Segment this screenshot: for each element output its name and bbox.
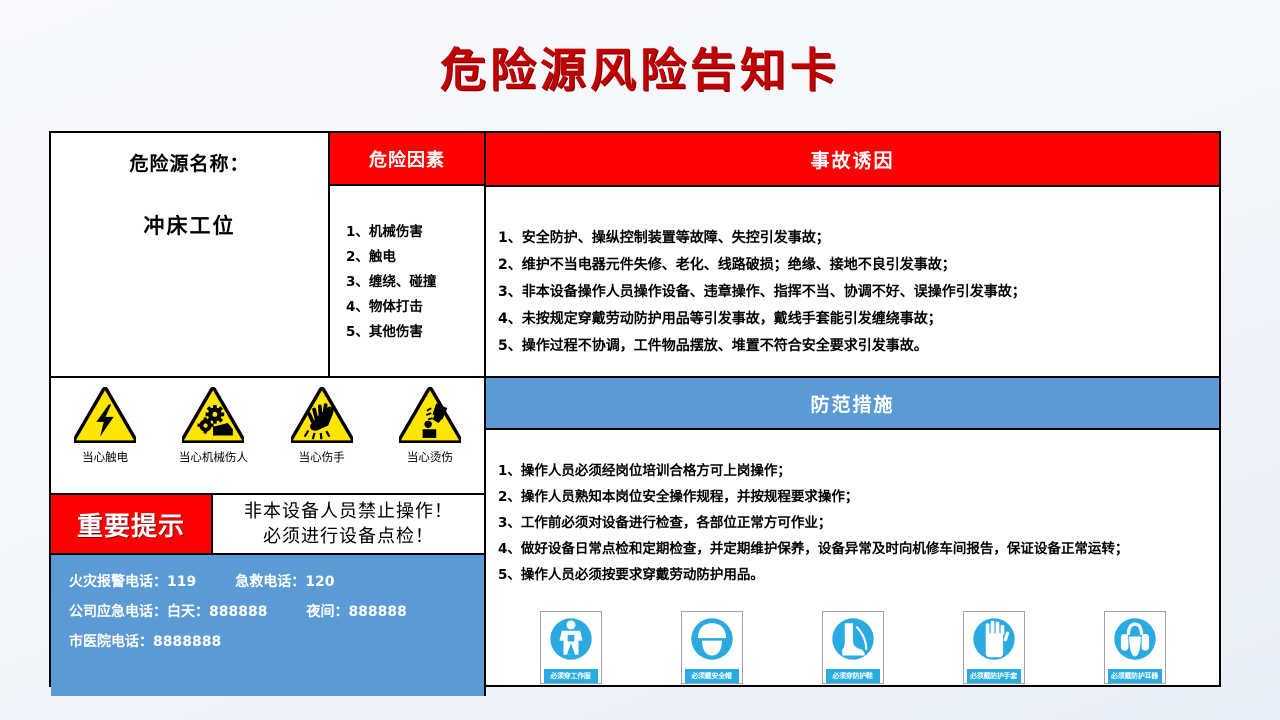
hazard-notice-card-page: 危险源风险告知卡 危险源名称： 冲床工位 危险因素 1、机械伤害 2、触电 3、… xyxy=(0,0,1280,720)
accident-causes-header: 事故诱因 xyxy=(486,133,1219,187)
contact-line: 火灾报警电话：119 急救电话：120 xyxy=(69,567,484,597)
warning-sign-caption: 当心伤手 xyxy=(273,449,371,465)
left-column: 当心触电 xyxy=(51,378,486,696)
accident-causes-list: 1、安全防护、操纵控制装置等故障、失控引发事故； 2、维护不当电器元件失修、老化… xyxy=(486,203,1219,360)
safety-shoes-mandatory-icon xyxy=(828,615,878,663)
warning-sign-caption: 当心触电 xyxy=(56,449,154,465)
burn-warning-icon xyxy=(399,387,461,443)
prevention-measures-header: 防范措施 xyxy=(486,378,1219,430)
list-item: 2、操作人员熟知本岗位安全操作规程，并按规程要求操作； xyxy=(498,484,1207,510)
accident-causes-cell: 事故诱因 1、安全防护、操纵控制装置等故障、失控引发事故； 2、维护不当电器元件… xyxy=(486,133,1219,376)
ppe-sign-ear-protection: 必须戴防护耳器 xyxy=(1104,611,1166,684)
ppe-sign-caption: 必须穿工作服 xyxy=(544,669,598,683)
list-item: 3、非本设备操作人员操作设备、违章操作、指挥不当、协调不好、误操作引发事故； xyxy=(498,279,1219,306)
list-item: 5、其他伤害 xyxy=(346,320,484,345)
hazard-name-value: 冲床工位 xyxy=(61,210,318,240)
risk-factors-list: 1、机械伤害 2、触电 3、缠绕、碰撞 4、物体打击 5、其他伤害 xyxy=(330,202,484,345)
warning-sign-caption: 当心烫伤 xyxy=(381,449,479,465)
work-clothes-mandatory-icon xyxy=(546,615,596,663)
list-item: 1、机械伤害 xyxy=(346,220,484,245)
important-notice-text: 非本设备人员禁止操作！ 必须进行设备点检！ xyxy=(213,495,484,553)
emergency-contacts-box: 火灾报警电话：119 急救电话：120 公司应急电话：白天：888888 夜间：… xyxy=(51,555,484,696)
ear-protection-mandatory-icon xyxy=(1110,615,1160,663)
protective-gloves-mandatory-icon xyxy=(969,615,1019,663)
ppe-sign-work-clothes: 必须穿工作服 xyxy=(540,611,602,684)
prevention-measures-list: 1、操作人员必须经岗位培训合格方可上岗操作； 2、操作人员熟知本岗位安全操作规程… xyxy=(486,446,1219,588)
ppe-sign-caption: 必须戴安全帽 xyxy=(685,669,739,683)
right-column: 防范措施 1、操作人员必须经岗位培训合格方可上岗操作； 2、操作人员熟知本岗位安… xyxy=(486,378,1219,696)
list-item: 5、操作人员必须按要求穿戴劳动防护用品。 xyxy=(498,562,1207,588)
list-item: 1、操作人员必须经岗位培训合格方可上岗操作； xyxy=(498,458,1207,484)
warning-sign-burn: 当心烫伤 xyxy=(381,387,479,465)
ppe-signs-row: 必须穿工作服 必须戴安全帽 xyxy=(486,604,1219,696)
electric-shock-warning-icon xyxy=(74,387,136,443)
hazard-name-label: 危险源名称： xyxy=(61,149,318,176)
warning-sign-caption: 当心机械伤人 xyxy=(164,449,262,465)
list-item: 2、维护不当电器元件失修、老化、线路破损；绝缘、接地不良引发事故； xyxy=(498,252,1219,279)
list-item: 3、工作前必须对设备进行检查，各部位正常方可作业； xyxy=(498,510,1207,536)
hazard-name-cell: 危险源名称： 冲床工位 xyxy=(51,133,330,376)
warning-signs-row: 当心触电 xyxy=(51,378,484,495)
ppe-sign-caption: 必须戴防护耳器 xyxy=(1108,669,1162,683)
warning-sign-hand-injury: 当心伤手 xyxy=(273,387,371,465)
list-item: 1、安全防护、操纵控制装置等故障、失控引发事故； xyxy=(498,225,1219,252)
list-item: 2、触电 xyxy=(346,245,484,270)
contact-line: 市医院电话：8888888 xyxy=(69,627,484,657)
warning-sign-machinery: 当心机械伤人 xyxy=(164,387,262,465)
list-item: 4、物体打击 xyxy=(346,295,484,320)
ppe-sign-shoes: 必须穿防护鞋 xyxy=(822,611,884,684)
page-title: 危险源风险告知卡 xyxy=(0,34,1280,100)
list-item: 5、操作过程不协调，工件物品摆放、堆置不符合安全要求引发事故。 xyxy=(498,333,1219,360)
list-item: 3、缠绕、碰撞 xyxy=(346,270,484,295)
warning-sign-electric-shock: 当心触电 xyxy=(56,387,154,465)
notice-card: 危险源名称： 冲床工位 危险因素 1、机械伤害 2、触电 3、缠绕、碰撞 4、物… xyxy=(49,131,1221,687)
card-top-section: 危险源名称： 冲床工位 危险因素 1、机械伤害 2、触电 3、缠绕、碰撞 4、物… xyxy=(51,133,1219,378)
important-notice-badge: 重要提示 xyxy=(51,495,213,553)
ppe-sign-helmet: 必须戴安全帽 xyxy=(681,611,743,684)
list-item: 4、做好设备日常点检和定期检查，并定期维护保养，设备异常及时向机修车间报告，保证… xyxy=(498,536,1207,562)
important-notice-line-2: 必须进行设备点检！ xyxy=(263,524,434,549)
risk-factors-cell: 危险因素 1、机械伤害 2、触电 3、缠绕、碰撞 4、物体打击 5、其他伤害 xyxy=(330,133,486,376)
important-notice-row: 重要提示 非本设备人员禁止操作！ 必须进行设备点检！ xyxy=(51,495,484,555)
contact-line: 公司应急电话：白天：888888 夜间：888888 xyxy=(69,597,484,627)
risk-factors-header: 危险因素 xyxy=(330,133,484,186)
safety-helmet-mandatory-icon xyxy=(687,615,737,663)
card-bottom-section: 当心触电 xyxy=(51,378,1219,696)
ppe-sign-caption: 必须穿防护鞋 xyxy=(826,669,880,683)
important-notice-line-1: 非本设备人员禁止操作！ xyxy=(244,499,453,524)
ppe-sign-gloves: 必须戴防护手套 xyxy=(963,611,1025,684)
machinery-injury-warning-icon xyxy=(182,387,244,443)
ppe-sign-caption: 必须戴防护手套 xyxy=(967,669,1021,683)
list-item: 4、未按规定穿戴劳动防护用品等引发事故，戴线手套能引发缠绕事故； xyxy=(498,306,1219,333)
hand-injury-warning-icon xyxy=(291,387,353,443)
